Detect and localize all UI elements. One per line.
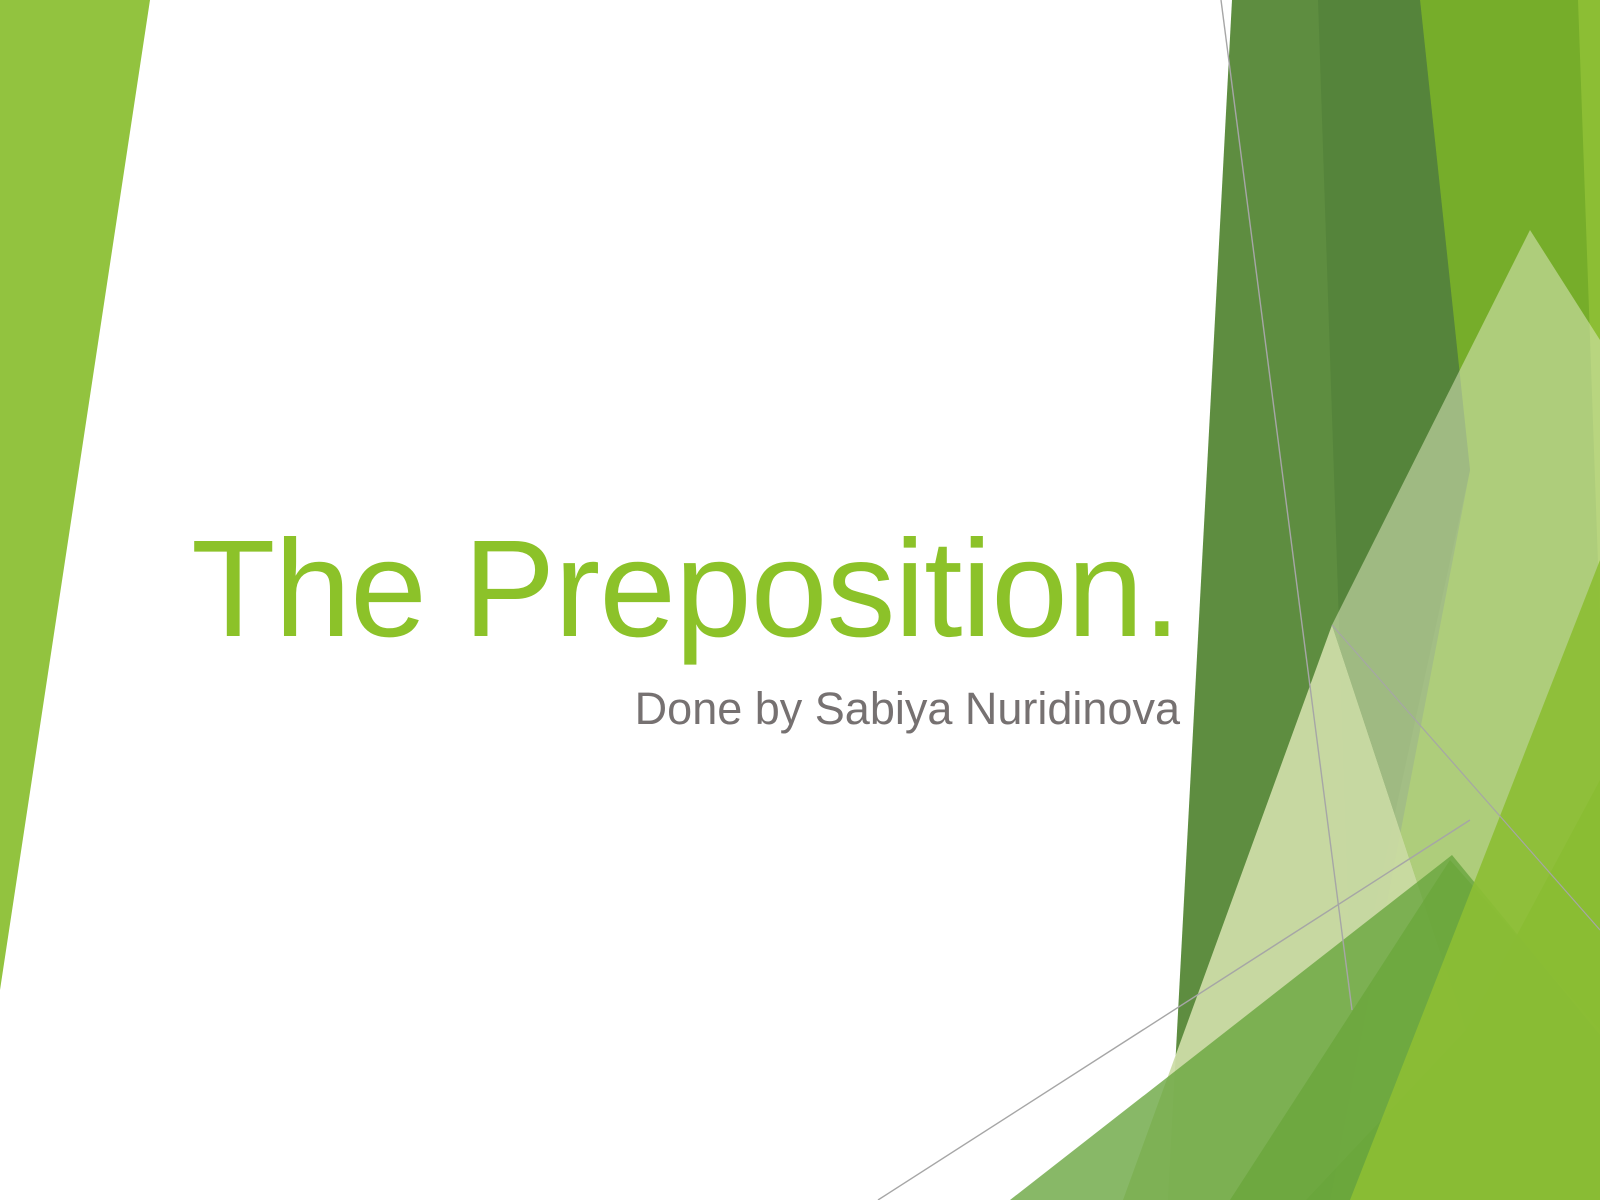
slide-subtitle: Done by Sabiya Nuridinova <box>120 684 1180 734</box>
title-slide: The Preposition. Done by Sabiya Nuridino… <box>0 0 1600 1200</box>
large-translucent-green-triangle <box>1010 855 1600 1200</box>
dark-band-inner-shade <box>1318 0 1470 1010</box>
hairline-upper-right <box>1221 0 1352 1010</box>
title-text-block: The Preposition. Done by Sabiya Nuridino… <box>120 520 1180 734</box>
bottom-right-bright-accent <box>1350 560 1600 1200</box>
page-title: The Preposition. <box>120 520 1180 658</box>
right-mid-green-band <box>1245 0 1600 1200</box>
right-bright-green-band <box>1395 0 1600 1200</box>
hairline-diagonal-long <box>878 820 1470 1200</box>
right-dark-green-band <box>1168 0 1470 1200</box>
left-green-wedge <box>0 0 150 990</box>
pale-green-wedge-upper <box>1332 230 1600 1030</box>
hairline-diagonal-short <box>1332 625 1600 930</box>
mid-green-overlay-triangle <box>1230 860 1600 1200</box>
